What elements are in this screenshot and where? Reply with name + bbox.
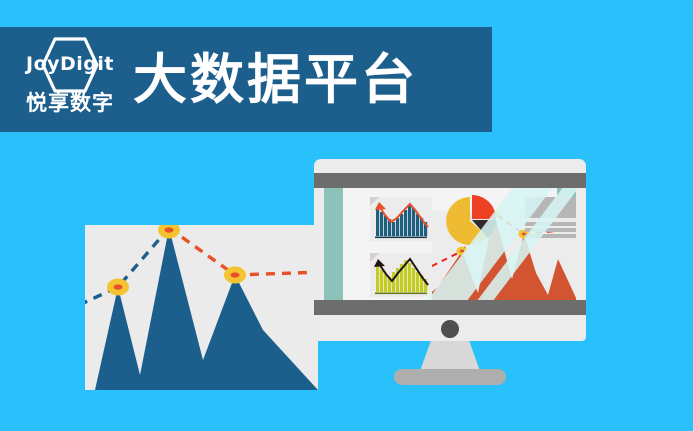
page-title: 大数据平台 (133, 53, 418, 107)
logo-subtitle: 悦享数字 (16, 93, 124, 114)
monitor-bottom-bezel (314, 300, 586, 315)
screen-document-widget (525, 197, 576, 237)
left-mountain-chart (85, 225, 318, 390)
brand-logo: JoyDigit 悦享数字 (16, 35, 124, 125)
screen-olive-bar-chart (370, 253, 432, 297)
monitor-top-bezel (314, 173, 586, 188)
power-button-icon (441, 320, 459, 338)
screen-pie-chart (444, 195, 500, 247)
data-point-marker (456, 247, 467, 256)
monitor-illustration (314, 159, 586, 387)
monitor-screen (324, 188, 576, 300)
header-bar: JoyDigit 悦享数字 大数据平台 (0, 27, 492, 132)
data-point-marker (158, 225, 180, 239)
document-header-block (525, 197, 576, 218)
dashboard-canvas (343, 188, 557, 300)
screen-blue-bar-chart (370, 197, 432, 241)
document-row (525, 234, 576, 238)
screen-side-panel-left (324, 188, 343, 300)
monitor-base (394, 369, 506, 385)
left-mountain-chart-panel (85, 225, 318, 390)
data-point-marker (107, 279, 129, 296)
pie-slice-b (472, 195, 496, 219)
trend-line-right (169, 228, 318, 275)
logo-wordmark: JoyDigit (16, 55, 124, 74)
blue-bar-chart-svg (370, 197, 432, 241)
olive-bar-chart-svg (370, 253, 432, 297)
data-point-marker (224, 267, 246, 284)
document-row (525, 228, 576, 232)
document-row (525, 222, 576, 226)
monitor-neck (420, 341, 480, 371)
banner-root: JoyDigit 悦享数字 大数据平台 (0, 0, 693, 431)
